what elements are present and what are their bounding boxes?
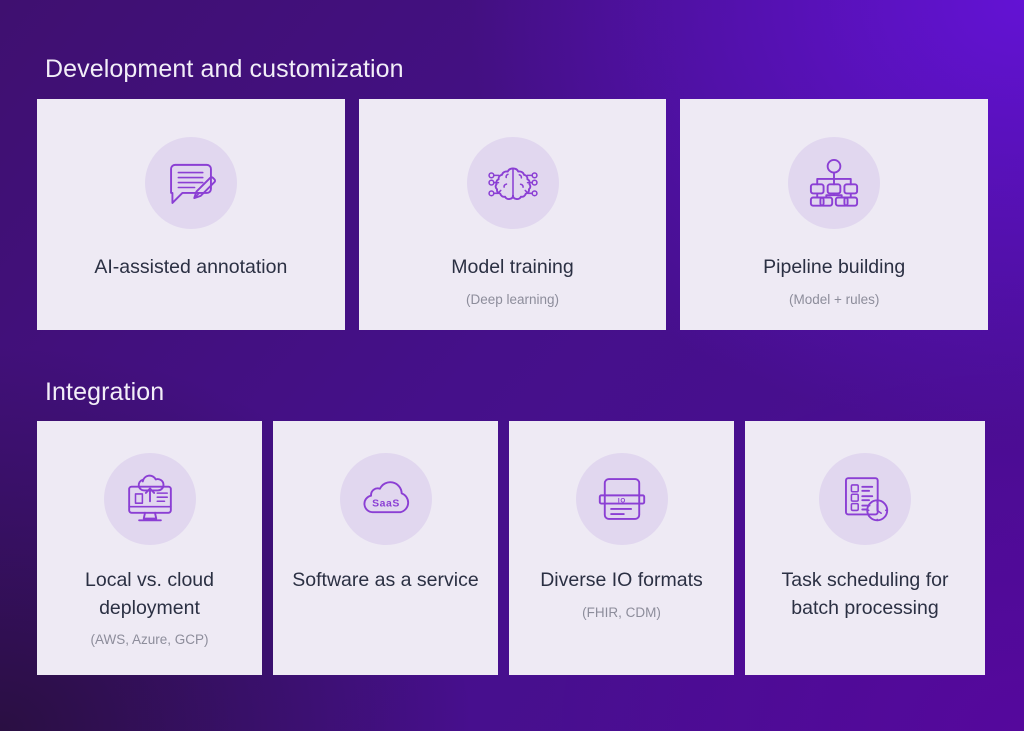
card-title: Software as a service [280, 567, 490, 595]
section-heading-integration: Integration [45, 378, 164, 407]
card-subtitle: (FHIR, CDM) [572, 604, 671, 622]
checklist-clock-icon [819, 453, 911, 545]
card-subtitle: (Model + rules) [779, 291, 889, 309]
card-pipeline-building[interactable]: Pipeline building (Model + rules) [680, 99, 988, 330]
card-task-scheduling[interactable]: Task scheduling for batch processing [745, 421, 985, 675]
card-title: Local vs. cloud deployment [37, 567, 262, 622]
hierarchy-tree-icon [788, 137, 880, 229]
card-row-integration: Local vs. cloud deployment (AWS, Azure, … [37, 421, 988, 675]
card-subtitle: (Deep learning) [456, 291, 569, 309]
card-title: Diverse IO formats [528, 567, 715, 595]
card-title: Pipeline building [751, 254, 917, 282]
card-ai-assisted-annotation[interactable]: AI-assisted annotation [37, 99, 345, 330]
card-subtitle: (AWS, Azure, GCP) [80, 631, 218, 649]
saas-cloud-icon: SaaS [340, 453, 432, 545]
card-diverse-io-formats[interactable]: IO Diverse IO formats (FHIR, CDM) [509, 421, 734, 675]
card-title: Task scheduling for batch processing [745, 567, 985, 622]
card-local-vs-cloud-deployment[interactable]: Local vs. cloud deployment (AWS, Azure, … [37, 421, 262, 675]
annotation-pencil-icon [145, 137, 237, 229]
saas-icon-label: SaaS [372, 498, 400, 509]
section-heading-development: Development and customization [45, 55, 404, 84]
card-title: Model training [439, 254, 585, 282]
monitor-cloud-upload-icon [104, 453, 196, 545]
card-title: AI-assisted annotation [82, 254, 299, 282]
slide-canvas: Development and customization AI-assiste… [0, 0, 1024, 731]
card-model-training[interactable]: Model training (Deep learning) [359, 99, 667, 330]
card-row-development: AI-assisted annotation [37, 99, 988, 330]
io-icon-label: IO [617, 497, 625, 504]
io-document-icon: IO [576, 453, 668, 545]
brain-circuit-icon [467, 137, 559, 229]
card-software-as-a-service[interactable]: SaaS Software as a service [273, 421, 498, 675]
